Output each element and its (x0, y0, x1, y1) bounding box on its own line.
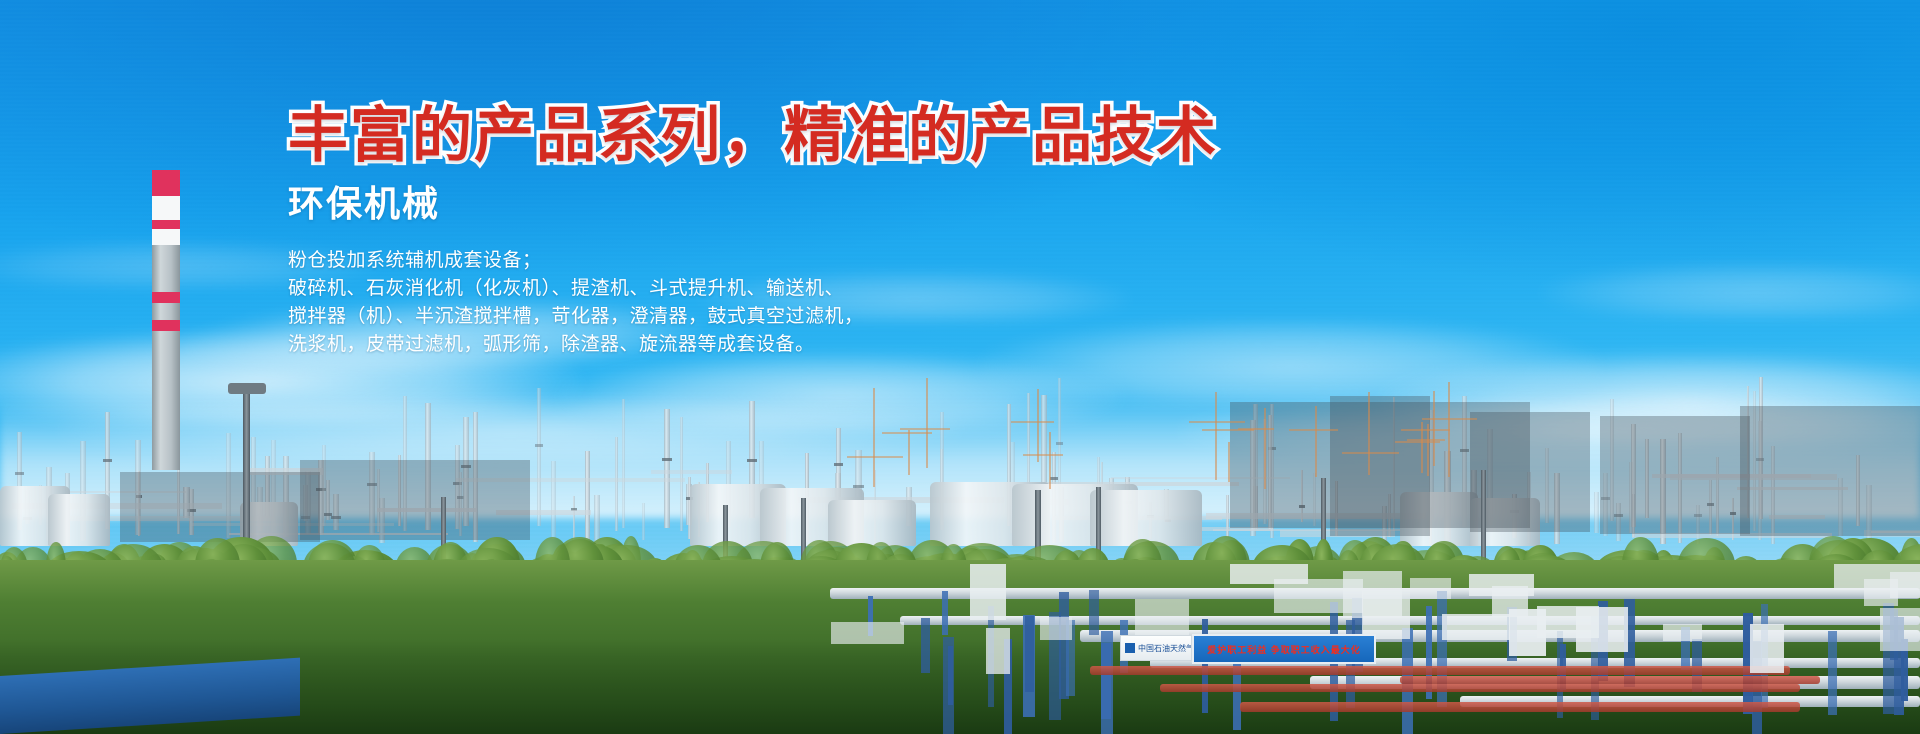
crane-mast (1427, 424, 1429, 476)
column-platform (535, 444, 543, 447)
column-platform (1056, 442, 1063, 445)
description-line: 粉仓投加系统辅机成套设备； (288, 246, 1268, 274)
pipe-support-column (948, 646, 953, 704)
plant-building (970, 564, 1006, 620)
description-line: 洗浆机，皮带过滤机，弧形筛，除渣器、旋流器等成套设备。 (288, 330, 1268, 358)
page-description: 粉仓投加系统辅机成套设备； 破碎机、石灰消化机（化灰机）、提渣机、斗式提升机、输… (288, 246, 1268, 358)
crane-mast (1037, 389, 1039, 462)
crane-jib (882, 432, 931, 434)
plant-building (1537, 606, 1599, 638)
crane-mast (1215, 392, 1217, 480)
plant-building (1880, 608, 1920, 651)
plant-building (986, 628, 1010, 674)
description-line: 破碎机、石灰消化机（化灰机）、提渣机、斗式提升机、输送机、 (288, 274, 1268, 302)
crane-mast (1315, 406, 1317, 477)
crane-jib (900, 428, 950, 430)
red-pipeline (1400, 676, 1820, 684)
column-platform (662, 458, 672, 461)
pipe-support-column (1089, 590, 1099, 635)
column-platform (103, 459, 112, 462)
crane-jib (1238, 428, 1275, 430)
crane-jib (1011, 421, 1054, 423)
plant-building (1663, 624, 1702, 642)
crane-mast (908, 430, 910, 475)
red-pipeline (1160, 684, 1800, 692)
factory-banner-sign: 爱护职工利益 争取职工收入最大化 (1192, 634, 1376, 664)
pipe-support-column (1101, 631, 1112, 734)
plant-building (1410, 578, 1451, 599)
factory-plaque-text: 中国石油天然气 (1138, 643, 1192, 654)
pipe-support-column (1828, 631, 1837, 715)
column-platform (747, 459, 757, 462)
hero-copy: 丰富的产品系列，精准的产品技术 环保机械 粉仓投加系统辅机成套设备； 破碎机、石… (288, 104, 1268, 358)
crane-jib (1422, 418, 1477, 420)
plant-building (1509, 609, 1546, 656)
plant-building (1230, 564, 1309, 584)
page-title: 丰富的产品系列，精准的产品技术 (288, 104, 1268, 169)
crane-mast (1368, 392, 1370, 475)
crane-mast (926, 378, 928, 468)
plant-building (1864, 579, 1899, 606)
crane-jib (1189, 421, 1245, 423)
company-logo-icon (1125, 643, 1135, 653)
pipe-support-column (1025, 616, 1034, 693)
plant-building (1362, 590, 1410, 639)
crane-jib (847, 456, 904, 458)
smokestack (152, 170, 180, 470)
pipe-support-column (942, 591, 948, 635)
crane-jib (1342, 452, 1398, 454)
description-line: 搅拌器（机）、半沉渣搅拌槽，苛化器，澄清器，鼓式真空过滤机， (288, 302, 1268, 330)
plant-building (831, 622, 904, 644)
red-pipeline (1090, 666, 1790, 675)
plant-building (1040, 617, 1072, 640)
column-platform (834, 463, 842, 466)
crane-jib (1401, 429, 1450, 431)
hero-banner: 中国石油天然气 爱护职工利益 争取职工收入最大化 丰富的产品系列，精准的产品技术… (0, 0, 1920, 734)
factory-banner-text: 爱护职工利益 争取职工收入最大化 (1207, 643, 1361, 656)
factory-plaque-sign: 中国石油天然气 (1120, 635, 1192, 661)
plant-building (1442, 614, 1511, 641)
light-pole-head (228, 383, 266, 394)
page-subtitle: 环保机械 (288, 183, 1268, 226)
crane-jib (1289, 429, 1338, 431)
crane-jib (1023, 454, 1063, 456)
red-pipeline (1240, 702, 1800, 712)
plant-building (1750, 624, 1785, 673)
pipe-support-column (921, 618, 930, 672)
